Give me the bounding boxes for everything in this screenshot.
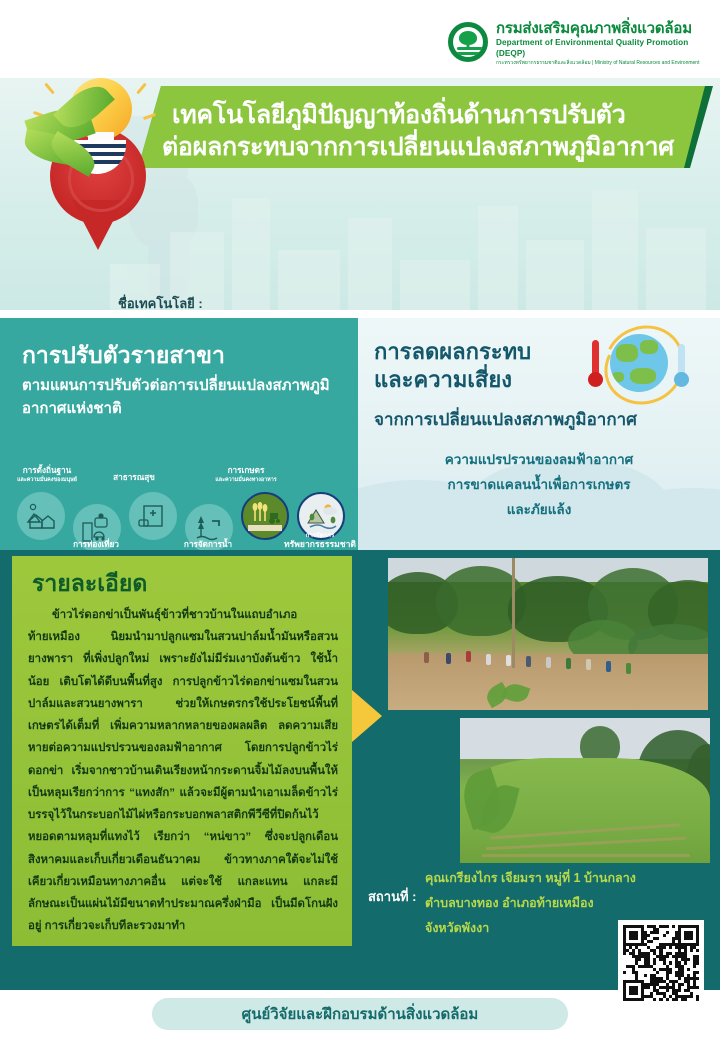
poster-root: กรมส่งเสริมคุณภาพสิ่งแวดล้อม Department … bbox=[0, 0, 720, 1040]
details-body-text: ข้าวไร่ดอกข่าเป็นพันธุ์ข้าวที่ชาวบ้านในแ… bbox=[28, 604, 338, 938]
details-title: รายละเอียด bbox=[32, 566, 147, 602]
main-title-banner: เทคโนโลยีภูมิปัญญาท้องถิ่นด้านการปรับตัว… bbox=[138, 86, 713, 168]
mitigation-subheading: จากการเปลี่ยนแปลงสภาพภูมิอากาศ bbox=[374, 406, 637, 433]
title-band: เทคโนโลยีภูมิปัญญาท้องถิ่นด้านการปรับตัว… bbox=[0, 78, 720, 310]
photo-villagers-planting-hillside bbox=[388, 558, 708, 710]
earth-globe-icon bbox=[610, 334, 668, 392]
mitigation-heading-line2: และความเสี่ยง bbox=[374, 366, 531, 394]
mitigation-panel: การลดผลกระทบ และความเสี่ยง จากการเปลี่ยน… bbox=[358, 318, 720, 550]
risk-list: ความแปรปรวนของลมฟ้าอากาศ การขาดแคลนน้ำเพ… bbox=[358, 448, 720, 523]
org-name-thai: กรมส่งเสริมคุณภาพสิ่งแวดล้อม bbox=[496, 20, 712, 37]
mitigation-heading-line1: การลดผลกระทบ bbox=[374, 338, 531, 366]
qr-code-icon[interactable] bbox=[618, 920, 704, 1006]
poster-header: กรมส่งเสริมคุณภาพสิ่งแวดล้อม Department … bbox=[0, 0, 720, 78]
location-label: สถานที่ : bbox=[368, 886, 417, 907]
org-identity: กรมส่งเสริมคุณภาพสิ่งแวดล้อม Department … bbox=[496, 20, 712, 66]
risk-item-3: และภัยแล้ง bbox=[358, 498, 720, 523]
location-line-1: คุณเกรียงไกร เจียมรา หมู่ที่ 1 บ้านกลาง bbox=[425, 866, 695, 891]
deqp-logo-icon bbox=[448, 22, 488, 62]
main-title-line2: ต่อผลกระทบจากการเปลี่ยนแปลงสภาพภูมิอากาศ bbox=[162, 127, 674, 167]
adaptation-heading: การปรับตัวรายสาขา bbox=[22, 338, 225, 374]
settlement-houses-icon bbox=[17, 492, 65, 540]
technology-name-label: ชื่อเทคโนโลยี : bbox=[118, 293, 203, 310]
footer-badge: ศูนย์วิจัยและฝึกอบรมด้านสิ่งแวดล้อม bbox=[152, 998, 568, 1030]
sector-label-agriculture: การเกษตร และความมั่นคงทางอาหาร bbox=[186, 466, 306, 483]
risk-item-1: ความแปรปรวนของลมฟ้าอากาศ bbox=[358, 448, 720, 473]
org-name-english: Department of Environmental Quality Prom… bbox=[496, 38, 712, 59]
location-line-2: ตำบลบางทอง อำเภอท้ายเหมือง bbox=[425, 891, 695, 916]
thermometer-cold-icon bbox=[678, 344, 685, 380]
sector-label-water: การจัดการน้ำ bbox=[148, 540, 268, 550]
adaptation-panel: การปรับตัวรายสาขา ตามแผนการปรับตัวต่อการ… bbox=[0, 318, 358, 550]
ministry-name: กระทรวงทรัพยากรธรรมชาติและสิ่งแวดล้อม | … bbox=[496, 60, 712, 67]
risk-item-2: การขาดแคลนน้ำเพื่อการเกษตร bbox=[358, 473, 720, 498]
thermometer-hot-icon bbox=[592, 340, 599, 380]
sector-label-tourism: การท่องเที่ยว bbox=[36, 540, 156, 550]
yellow-arrow-icon bbox=[352, 690, 382, 742]
photo-upland-rice-field bbox=[460, 718, 710, 863]
adaptation-subheading: ตามแผนการปรับตัวต่อการเปลี่ยนแปลงสภาพภูม… bbox=[22, 374, 342, 421]
lightbulb-leaf-map-pin-icon bbox=[22, 78, 162, 258]
public-health-hospital-icon bbox=[129, 492, 177, 540]
sector-label-public-health: สาธารณสุข bbox=[74, 473, 194, 483]
details-box: รายละเอียด ข้าวไร่ดอกข่าเป็นพันธุ์ข้าวที… bbox=[12, 556, 352, 946]
mitigation-heading: การลดผลกระทบ และความเสี่ยง bbox=[374, 338, 531, 393]
qr-caption: ข้อมูลเพิ่มเติม bbox=[604, 1012, 718, 1027]
footer-label: ศูนย์วิจัยและฝึกอบรมด้านสิ่งแวดล้อม bbox=[242, 1002, 479, 1026]
